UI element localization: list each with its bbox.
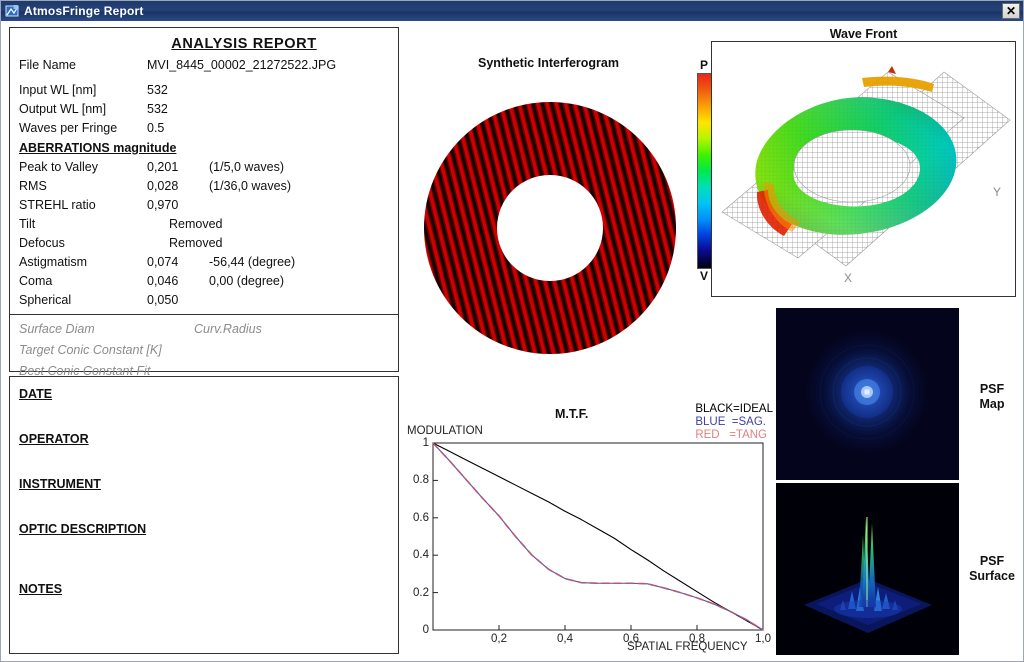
aberration-value: 0,201: [147, 158, 209, 177]
aberration-extra: (1/36,0 waves): [209, 177, 398, 196]
mtf-x-tick-label: 0,8: [689, 633, 705, 645]
aberration-value: 0,028: [147, 177, 209, 196]
report-row: Waves per Fringe0.5: [10, 119, 398, 138]
application-window: AtmosFringe Report ✕ ANALYSIS REPORT Fil…: [0, 0, 1024, 662]
mtf-x-tick-label: 0,4: [557, 633, 573, 645]
mtf-chart-panel: M.T.F. MODULATION SPATIAL FREQUENCY 10.8…: [405, 401, 775, 659]
psf-surface-label: PSF Surface: [963, 554, 1021, 584]
mtf-x-tick-label: 0,6: [623, 633, 639, 645]
aberration-extra: [209, 291, 398, 310]
report-row-extra: [209, 81, 398, 100]
psf-map-label-line2: Map: [963, 397, 1021, 412]
psf-map-label-line1: PSF: [963, 382, 1021, 397]
page-title: ANALYSIS REPORT: [10, 36, 398, 52]
mtf-chart-title: M.T.F.: [555, 407, 588, 421]
psf-surface-image: [776, 483, 959, 655]
report-row-extra: [209, 119, 398, 138]
report-row-value: 532: [147, 100, 209, 119]
aberration-label: Astigmatism: [19, 253, 147, 272]
report-row-extra: [209, 100, 398, 119]
aberration-extra: [209, 196, 398, 215]
mtf-y-tick-label: 0.4: [413, 549, 429, 561]
psf-map-image: [776, 308, 959, 480]
interferogram-title: Synthetic Interferogram: [406, 56, 691, 70]
synthetic-interferogram-panel: Synthetic Interferogram: [406, 56, 691, 386]
aberration-row: TiltRemoved: [10, 215, 398, 234]
notes-section-date: DATE: [10, 387, 52, 401]
mtf-legend-item: BLACK=IDEAL: [695, 403, 773, 416]
mtf-y-tick-label: 0: [423, 624, 429, 636]
close-icon[interactable]: ✕: [1002, 3, 1020, 19]
psf-map-label: PSF Map: [963, 382, 1021, 412]
aberration-value: 0,046: [147, 272, 209, 291]
aberration-row: Coma0,0460,00 (degree): [10, 272, 398, 291]
aberration-extra: 0,00 (degree): [209, 272, 398, 291]
aberration-extra: [231, 215, 398, 234]
aberration-row: DefocusRemoved: [10, 234, 398, 253]
mtf-legend-item: RED =TANG: [695, 429, 773, 442]
aberration-value: Removed: [147, 215, 231, 234]
file-name-value: MVI_8445_00002_21272522.JPG: [147, 56, 398, 75]
aberration-label: Peak to Valley: [19, 158, 147, 177]
aberration-row: Peak to Valley0,201(1/5,0 waves): [10, 158, 398, 177]
wavefront-panel: Wave Front: [711, 27, 1016, 297]
report-row-label: Waves per Fringe: [19, 119, 147, 138]
mtf-legend: BLACK=IDEALBLUE =SAG.RED =TANG: [695, 403, 773, 442]
mtf-x-tick-label: 1,0: [755, 633, 771, 645]
aberration-row: STREHL ratio0,970: [10, 196, 398, 215]
wavefront-title: Wave Front: [711, 27, 1016, 41]
conic-row: Target Conic Constant [K]: [10, 340, 398, 361]
report-row-value: 532: [147, 81, 209, 100]
report-basic-rows: Input WL [nm]532Output WL [nm]532Waves p…: [10, 81, 398, 138]
conic-label-left: Target Conic Constant [K]: [19, 340, 194, 361]
mtf-y-tick-label: 1: [423, 437, 429, 449]
interferogram-image: [423, 78, 678, 378]
file-name-label: File Name: [19, 56, 147, 75]
mtf-curves: [433, 443, 763, 630]
mtf-y-tick-label: 0.6: [413, 512, 429, 524]
notes-section-notes: NOTES: [10, 582, 62, 596]
report-row: Input WL [nm]532: [10, 81, 398, 100]
aberrations-heading: ABERRATIONS magnitude: [10, 138, 398, 158]
report-row: Output WL [nm]532: [10, 100, 398, 119]
aberration-row: Astigmatism0,074-56,44 (degree): [10, 253, 398, 272]
notes-section-optic-description: OPTIC DESCRIPTION: [10, 522, 146, 536]
aberration-label: Coma: [19, 272, 147, 291]
mtf-x-tick-label: 0,2: [491, 633, 507, 645]
aberration-value: 0,970: [147, 196, 209, 215]
aberration-value: Removed: [147, 234, 231, 253]
mtf-plot-area: 10.80.60.40.200,20,40,60,81,0: [433, 443, 763, 630]
psf-surface-label-line1: PSF: [963, 554, 1021, 569]
aberration-rows: Peak to Valley0,201(1/5,0 waves)RMS0,028…: [10, 158, 398, 310]
aberration-label: Tilt: [19, 215, 147, 234]
window-title-bar: AtmosFringe Report ✕: [1, 1, 1023, 21]
aberration-label: Defocus: [19, 234, 147, 253]
wavefront-surface-3d: X Y: [712, 42, 1015, 296]
conic-row: Surface DiamCurv.Radius: [10, 319, 398, 340]
report-row-label: Output WL [nm]: [19, 100, 147, 119]
aberration-label: RMS: [19, 177, 147, 196]
psf-surface-label-line2: Surface: [963, 569, 1021, 584]
aberration-label: STREHL ratio: [19, 196, 147, 215]
notes-panel[interactable]: DATEOPERATORINSTRUMENTOPTIC DESCRIPTIONN…: [9, 376, 399, 654]
mtf-series-ideal: [433, 443, 763, 630]
mtf-x-axis-label: SPATIAL FREQUENCY: [627, 641, 748, 653]
aberration-row: RMS0,028(1/36,0 waves): [10, 177, 398, 196]
mtf-y-tick-label: 0.8: [413, 474, 429, 486]
conic-label-left: Surface Diam: [19, 319, 194, 340]
conic-constants-block: Surface DiamCurv.RadiusTarget Conic Cons…: [10, 314, 398, 382]
mtf-y-tick-label: 0.2: [413, 587, 429, 599]
window-title: AtmosFringe Report: [24, 4, 144, 18]
aberration-row: Spherical0,050: [10, 291, 398, 310]
analysis-report-panel: ANALYSIS REPORT File Name MVI_8445_00002…: [9, 27, 399, 372]
conic-label-right: Curv.Radius: [194, 319, 262, 340]
wavefront-plot: X Y: [711, 41, 1016, 297]
mtf-legend-item: BLUE =SAG.: [695, 416, 773, 429]
aberration-extra: -56,44 (degree): [209, 253, 398, 272]
aberration-extra: (1/5,0 waves): [209, 158, 398, 177]
aberration-value: 0,074: [147, 253, 209, 272]
report-row-label: Input WL [nm]: [19, 81, 147, 100]
colorbar-gradient: [697, 73, 712, 269]
notes-section-instrument: INSTRUMENT: [10, 477, 101, 491]
aberration-label: Spherical: [19, 291, 147, 310]
wavefront-x-axis-label: X: [844, 271, 852, 285]
wavefront-y-axis-label: Y: [993, 185, 1001, 199]
report-row-value: 0.5: [147, 119, 209, 138]
notes-section-operator: OPERATOR: [10, 432, 89, 446]
app-icon: [5, 4, 19, 18]
notes-sections: DATEOPERATORINSTRUMENTOPTIC DESCRIPTIONN…: [10, 377, 398, 653]
file-name-row: File Name MVI_8445_00002_21272522.JPG: [10, 56, 398, 75]
mtf-y-axis-label: MODULATION: [407, 425, 483, 437]
aberration-value: 0,050: [147, 291, 209, 310]
aberration-extra: [231, 234, 398, 253]
